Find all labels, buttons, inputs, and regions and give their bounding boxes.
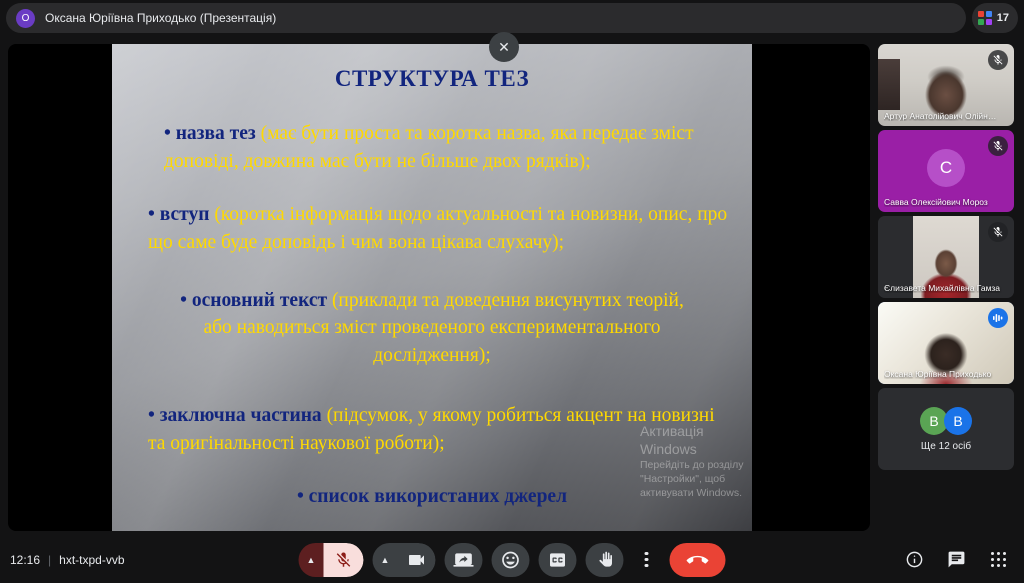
meeting-code: hxt-txpd-vvb [59, 553, 124, 567]
meeting-info: 12:16 | hxt-txpd-vvb [10, 553, 125, 567]
mic-off-icon [988, 222, 1008, 242]
participant-tile-artur[interactable]: Артур Анатолійович Олійн… [878, 44, 1014, 126]
participant-name: Оксана Юріївна Приходько [884, 369, 1008, 379]
slide-bullet-label: • вступ [148, 204, 214, 225]
activities-button[interactable] [984, 546, 1012, 574]
slide-bullet-text: (коротка інформація щодо актуальності та… [148, 204, 727, 253]
slide-title: СТРУКТУРА ТЕЗ [130, 66, 734, 92]
presenter-label: Оксана Юріївна Приходько (Презентація) [45, 11, 276, 25]
slide-bullet-label: • заключна частина [148, 405, 327, 426]
microphone-toggle[interactable] [324, 543, 364, 577]
participant-avatar: С [927, 149, 965, 187]
captions-button[interactable] [539, 543, 577, 577]
microphone-options-caret-icon[interactable]: ▲ [299, 543, 324, 577]
overflow-avatars: В В [920, 407, 972, 435]
participant-tile-savva[interactable]: С Савва Олексійович Мороз [878, 130, 1014, 212]
current-time: 12:16 [10, 553, 40, 567]
camera-control-group[interactable]: ▲ [373, 543, 436, 577]
participant-name: Артур Анатолійович Олійн… [884, 111, 1008, 121]
divider: | [48, 553, 51, 567]
kebab-menu-icon [645, 552, 648, 567]
raise-hand-button[interactable] [586, 543, 624, 577]
emoji-reactions-button[interactable] [492, 543, 530, 577]
presenting-banner[interactable]: О Оксана Юріївна Приходько (Презентація) [6, 3, 966, 33]
presenter-avatar: О [16, 9, 35, 28]
presentation-stage: СТРУКТУРА ТЕЗ • назва тез (має бути прос… [8, 44, 870, 531]
slide-bullet-label: • назва тез [164, 123, 261, 144]
present-screen-button[interactable] [445, 543, 483, 577]
mic-off-icon [988, 136, 1008, 156]
audio-level-icon [988, 308, 1008, 328]
slide-bullet: • вступ (коротка інформація щодо актуаль… [130, 201, 734, 256]
end-call-button[interactable] [670, 543, 726, 577]
overflow-avatar: В [944, 407, 972, 435]
participants-count: 17 [997, 12, 1009, 24]
participants-count-pill[interactable]: 17 [972, 3, 1018, 33]
participant-tile-yelyzaveta[interactable]: Єлизавета Михайлівна Гамза [878, 216, 1014, 298]
slide-body: • назва тез (має бути проста та коротка … [130, 120, 734, 511]
slide-bullet-label: • список використаних джерел [297, 486, 567, 507]
mic-off-icon [988, 50, 1008, 70]
slide-bullet: • заключна частина (підсумок, у якому ро… [130, 402, 734, 457]
mini-apps-icon [978, 11, 992, 25]
shared-slide: СТРУКТУРА ТЕЗ • назва тез (має бути прос… [112, 44, 752, 531]
close-presentation-button[interactable]: ✕ [489, 32, 519, 62]
meeting-details-button[interactable] [900, 546, 928, 574]
microphone-control-group[interactable]: ▲ [299, 543, 364, 577]
slide-bullet-label: • основний текст [180, 290, 332, 311]
participant-tile-oksana[interactable]: Оксана Юріївна Приходько [878, 302, 1014, 384]
bottom-bar: 12:16 | hxt-txpd-vvb ▲ ▲ [0, 536, 1024, 583]
slide-bullet: • список використаних джерел [130, 483, 734, 511]
camera-toggle[interactable] [398, 543, 436, 577]
google-meet-window: О Оксана Юріївна Приходько (Презентація)… [0, 0, 1024, 583]
participant-rail: Артур Анатолійович Олійн… С Савва Олексі… [878, 44, 1014, 470]
apps-grid-icon [991, 552, 1006, 567]
chat-button[interactable] [942, 546, 970, 574]
call-controls: ▲ ▲ [299, 543, 726, 577]
top-bar: О Оксана Юріївна Приходько (Презентація)… [0, 0, 1024, 36]
slide-bullet: • назва тез (має бути проста та коротка … [130, 120, 734, 175]
participant-name: Єлизавета Михайлівна Гамза [884, 283, 1008, 293]
participant-name: Савва Олексійович Мороз [884, 197, 1008, 207]
camera-options-caret-icon[interactable]: ▲ [373, 543, 398, 577]
more-participants-tile[interactable]: В В Ще 12 осіб [878, 388, 1014, 470]
bottom-right-actions [900, 546, 1012, 574]
overflow-label: Ще 12 осіб [921, 441, 971, 452]
more-options-button[interactable] [633, 543, 661, 577]
slide-bullet: • основний текст (приклади та доведення … [130, 287, 734, 370]
